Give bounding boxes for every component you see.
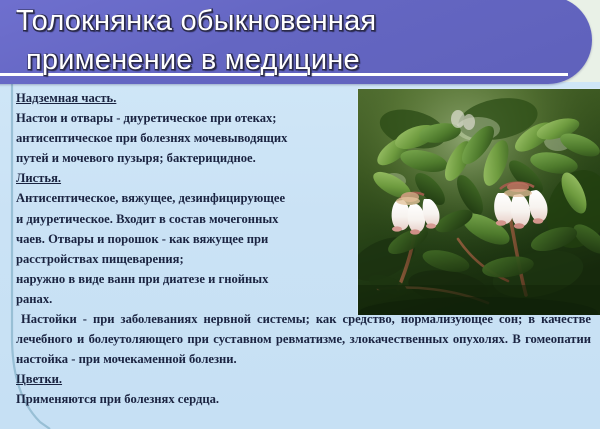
section-heading: Листья.: [16, 168, 354, 188]
section-heading: Надземная часть.: [16, 88, 354, 108]
section-aerial-part: Надземная часть. Настои и отвары - диуре…: [16, 88, 354, 168]
section-line: путей и мочевого пузыря; бактерицидное.: [16, 148, 354, 168]
section-line: Настои и отвары - диуретическое при отек…: [16, 108, 354, 128]
section-heading: Цветки.: [16, 369, 354, 389]
section-line: Антисептическое, вяжущее, дезинфицирующе…: [16, 188, 354, 208]
page-title-line-2: применение в медицине: [16, 41, 576, 80]
section-line: антисептическое при болезнях мочевыводящ…: [16, 128, 354, 148]
section-line: Применяются при болезнях сердца.: [16, 389, 354, 409]
section-leaves: Листья. Антисептическое, вяжущее, дезинф…: [16, 168, 354, 309]
section-line: расстройствах пищеварения;: [16, 249, 354, 269]
page-title: Толокнянка обыкновенная применение в мед…: [16, 0, 576, 82]
section-flowers: Цветки. Применяются при болезнях сердца.: [16, 369, 354, 409]
paragraph-tinctures: Настойки - при заболеваниях нервной сист…: [16, 309, 591, 369]
page-title-line-1: Толокнянка обыкновенная: [16, 2, 576, 41]
section-line: чаев. Отвары и порошок - как вяжущее при: [16, 229, 354, 249]
section-line: и диуретическое. Входит в состав мочегон…: [16, 209, 354, 229]
slide-root: Толокнянка обыкновенная применение в мед…: [0, 0, 600, 429]
section-line: ранах.: [16, 289, 354, 309]
body-text: Надземная часть. Настои и отвары - диуре…: [16, 88, 591, 410]
section-line: наружно в виде ванн при диатезе и гнойны…: [16, 269, 354, 289]
